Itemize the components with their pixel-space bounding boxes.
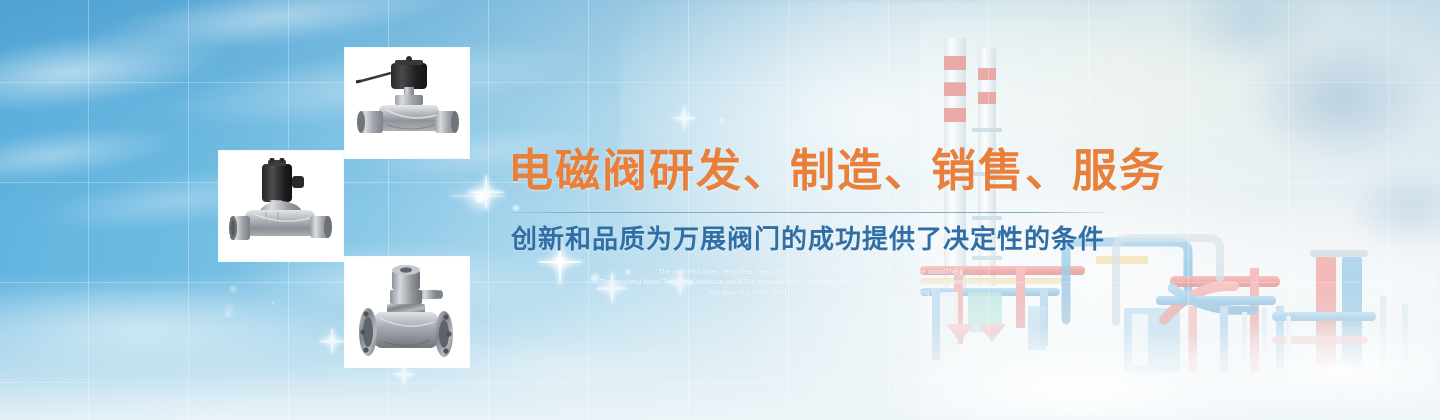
product-thumbnail-1[interactable] [345, 48, 469, 158]
filler-line: The peaceful times Teng flies, treasure … [514, 268, 1108, 279]
solenoid-valve-icon [351, 55, 463, 151]
product-thumbnail-3[interactable] [345, 257, 469, 367]
solenoid-valve-icon [226, 158, 336, 254]
hero-banner: 电磁阀研发、制造、销售、服务 创新和品质为万展阀门的成功提供了决定性的条件 Th… [0, 0, 1440, 420]
banner-copy: 电磁阀研发、制造、销售、服务 创新和品质为万展阀门的成功提供了决定性的条件 Th… [508, 148, 1108, 299]
page-subtitle: 创新和品质为万展阀门的成功提供了决定性的条件 [508, 226, 1108, 255]
filler-line: The peaceful times Teng flies, treasure … [534, 289, 1108, 300]
title-divider [508, 212, 1106, 213]
product-thumbnail-2[interactable] [219, 151, 343, 261]
flanged-solenoid-valve-icon [350, 264, 464, 360]
page-title: 电磁阀研发、制造、销售、服务 [508, 148, 1108, 193]
filler-line: The peaceful times Teng flies, treasure … [480, 278, 1108, 289]
filler-text-block: The peaceful times Teng flies, treasure … [508, 268, 1108, 300]
